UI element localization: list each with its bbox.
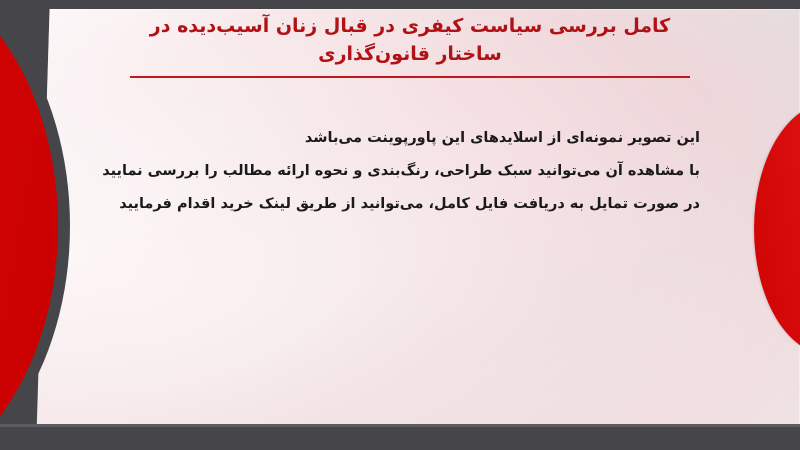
title-underline-rule <box>130 76 690 78</box>
slide-title-line-2: ساختار قانون‌گذاری <box>120 40 700 68</box>
frame-bottom-band <box>0 424 800 450</box>
body-line-1: این تصویر نمونه‌ای از اسلایدهای این پاور… <box>90 122 700 155</box>
presentation-slide: کامل بررسی سیاست کیفری در قبال زنان آسیب… <box>0 0 800 450</box>
body-line-3: در صورت تمایل به دریافت فایل کامل، می‌تو… <box>90 188 700 221</box>
slide-title: کامل بررسی سیاست کیفری در قبال زنان آسیب… <box>120 12 700 68</box>
slide-title-line-1: کامل بررسی سیاست کیفری در قبال زنان آسیب… <box>120 12 700 40</box>
slide-body-text: این تصویر نمونه‌ای از اسلایدهای این پاور… <box>90 122 700 221</box>
frame-top-band <box>0 0 800 9</box>
body-line-2: با مشاهده آن می‌توانید سبک طراحی، رنگ‌بن… <box>90 155 700 188</box>
